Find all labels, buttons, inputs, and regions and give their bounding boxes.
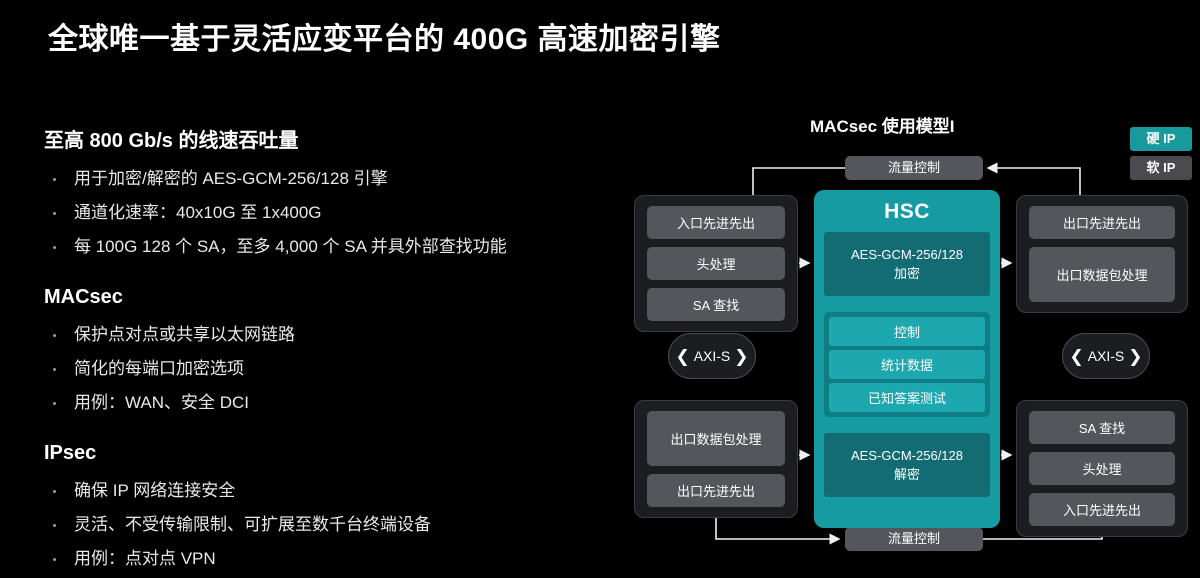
control-item-kat: 已知答案测试 bbox=[829, 383, 985, 412]
section-heading: IPsec bbox=[44, 442, 614, 465]
chip-header-processing: 头处理 bbox=[1029, 452, 1175, 485]
egress-bottom-block: 出口数据包处理 出口先进先出 bbox=[634, 400, 798, 518]
list-item: 保护点对点或共享以太网链路 bbox=[44, 318, 614, 352]
list-item: 每 100G 128 个 SA，至多 4,000 个 SA 并具外部查找功能 bbox=[44, 230, 614, 264]
chevron-left-icon: ❮ bbox=[675, 348, 689, 365]
section-heading: 至高 800 Gb/s 的线速吞吐量 bbox=[44, 124, 614, 153]
encrypt-engine-box: AES-GCM-256/128 加密 bbox=[824, 232, 990, 296]
legend: 硬 IP 软 IP bbox=[1130, 127, 1192, 185]
encrypt-algorithm-label: AES-GCM-256/128 bbox=[828, 245, 986, 264]
egress-top-block: 出口先进先出 出口数据包处理 bbox=[1016, 195, 1188, 313]
axi-s-right-label: AXI-S bbox=[1088, 348, 1125, 364]
feature-list: 至高 800 Gb/s 的线速吞吐量 用于加密/解密的 AES-GCM-256/… bbox=[44, 124, 614, 576]
list-item: 用例：WAN、安全 DCI bbox=[44, 386, 614, 420]
chip-sa-lookup: SA 查找 bbox=[647, 288, 785, 321]
decrypt-engine-box: AES-GCM-256/128 解密 bbox=[824, 433, 990, 497]
control-group: 控制 统计数据 已知答案测试 bbox=[824, 312, 990, 417]
axi-s-right-port: ❮ AXI-S ❯ bbox=[1062, 333, 1150, 379]
decrypt-algorithm-label: AES-GCM-256/128 bbox=[828, 446, 986, 465]
axi-s-left-label: AXI-S bbox=[694, 348, 731, 364]
chip-sa-lookup: SA 查找 bbox=[1029, 411, 1175, 444]
ingress-top-block: 入口先进先出 头处理 SA 查找 bbox=[634, 195, 798, 332]
flow-control-top: 流量控制 bbox=[845, 156, 983, 180]
chip-egress-fifo: 出口先进先出 bbox=[647, 474, 785, 507]
section-throughput: 至高 800 Gb/s 的线速吞吐量 用于加密/解密的 AES-GCM-256/… bbox=[44, 124, 614, 264]
ingress-bottom-block: SA 查找 头处理 入口先进先出 bbox=[1016, 400, 1188, 537]
list-item: 简化的每端口加密选项 bbox=[44, 352, 614, 386]
chip-egress-packet-processing: 出口数据包处理 bbox=[1029, 247, 1175, 302]
encrypt-action-label: 加密 bbox=[828, 264, 986, 283]
hsc-panel: HSC AES-GCM-256/128 加密 控制 统计数据 已知答案测试 AE… bbox=[814, 190, 1000, 528]
chip-header-processing: 头处理 bbox=[647, 247, 785, 280]
control-item-control: 控制 bbox=[829, 317, 985, 346]
control-item-statistics: 统计数据 bbox=[829, 350, 985, 379]
hsc-title: HSC bbox=[824, 200, 990, 224]
chip-ingress-fifo: 入口先进先出 bbox=[647, 206, 785, 239]
chevron-left-icon: ❮ bbox=[1069, 348, 1083, 365]
list-item: 用例：点对点 VPN bbox=[44, 542, 614, 576]
chip-egress-fifo: 出口先进先出 bbox=[1029, 206, 1175, 239]
diagram-title: MACsec 使用模型I bbox=[810, 112, 955, 137]
list-item: 通道化速率：40x10G 至 1x400G bbox=[44, 196, 614, 230]
page-title: 全球唯一基于灵活应变平台的 400G 高速加密引擎 bbox=[48, 14, 721, 58]
list-item: 确保 IP 网络连接安全 bbox=[44, 474, 614, 508]
chevron-right-icon: ❯ bbox=[1128, 348, 1142, 365]
chip-egress-packet-processing: 出口数据包处理 bbox=[647, 411, 785, 466]
list-item: 用于加密/解密的 AES-GCM-256/128 引擎 bbox=[44, 162, 614, 196]
legend-hard-ip-badge: 硬 IP bbox=[1130, 127, 1192, 151]
flow-control-bottom: 流量控制 bbox=[845, 527, 983, 551]
slide-root: 全球唯一基于灵活应变平台的 400G 高速加密引擎 至高 800 Gb/s 的线… bbox=[0, 0, 1200, 578]
section-ipsec: IPsec 确保 IP 网络连接安全 灵活、不受传输限制、可扩展至数千台终端设备… bbox=[44, 442, 614, 576]
macsec-block-diagram: MACsec 使用模型I 硬 IP 软 IP bbox=[620, 100, 1200, 578]
section-macsec: MACsec 保护点对点或共享以太网链路 简化的每端口加密选项 用例：WAN、安… bbox=[44, 286, 614, 420]
section-heading: MACsec bbox=[44, 286, 614, 309]
axi-s-left-port: ❮ AXI-S ❯ bbox=[668, 333, 756, 379]
legend-soft-ip-badge: 软 IP bbox=[1130, 156, 1192, 180]
decrypt-action-label: 解密 bbox=[828, 465, 986, 484]
chip-ingress-fifo: 入口先进先出 bbox=[1029, 493, 1175, 526]
chevron-right-icon: ❯ bbox=[734, 348, 748, 365]
list-item: 灵活、不受传输限制、可扩展至数千台终端设备 bbox=[44, 508, 614, 542]
